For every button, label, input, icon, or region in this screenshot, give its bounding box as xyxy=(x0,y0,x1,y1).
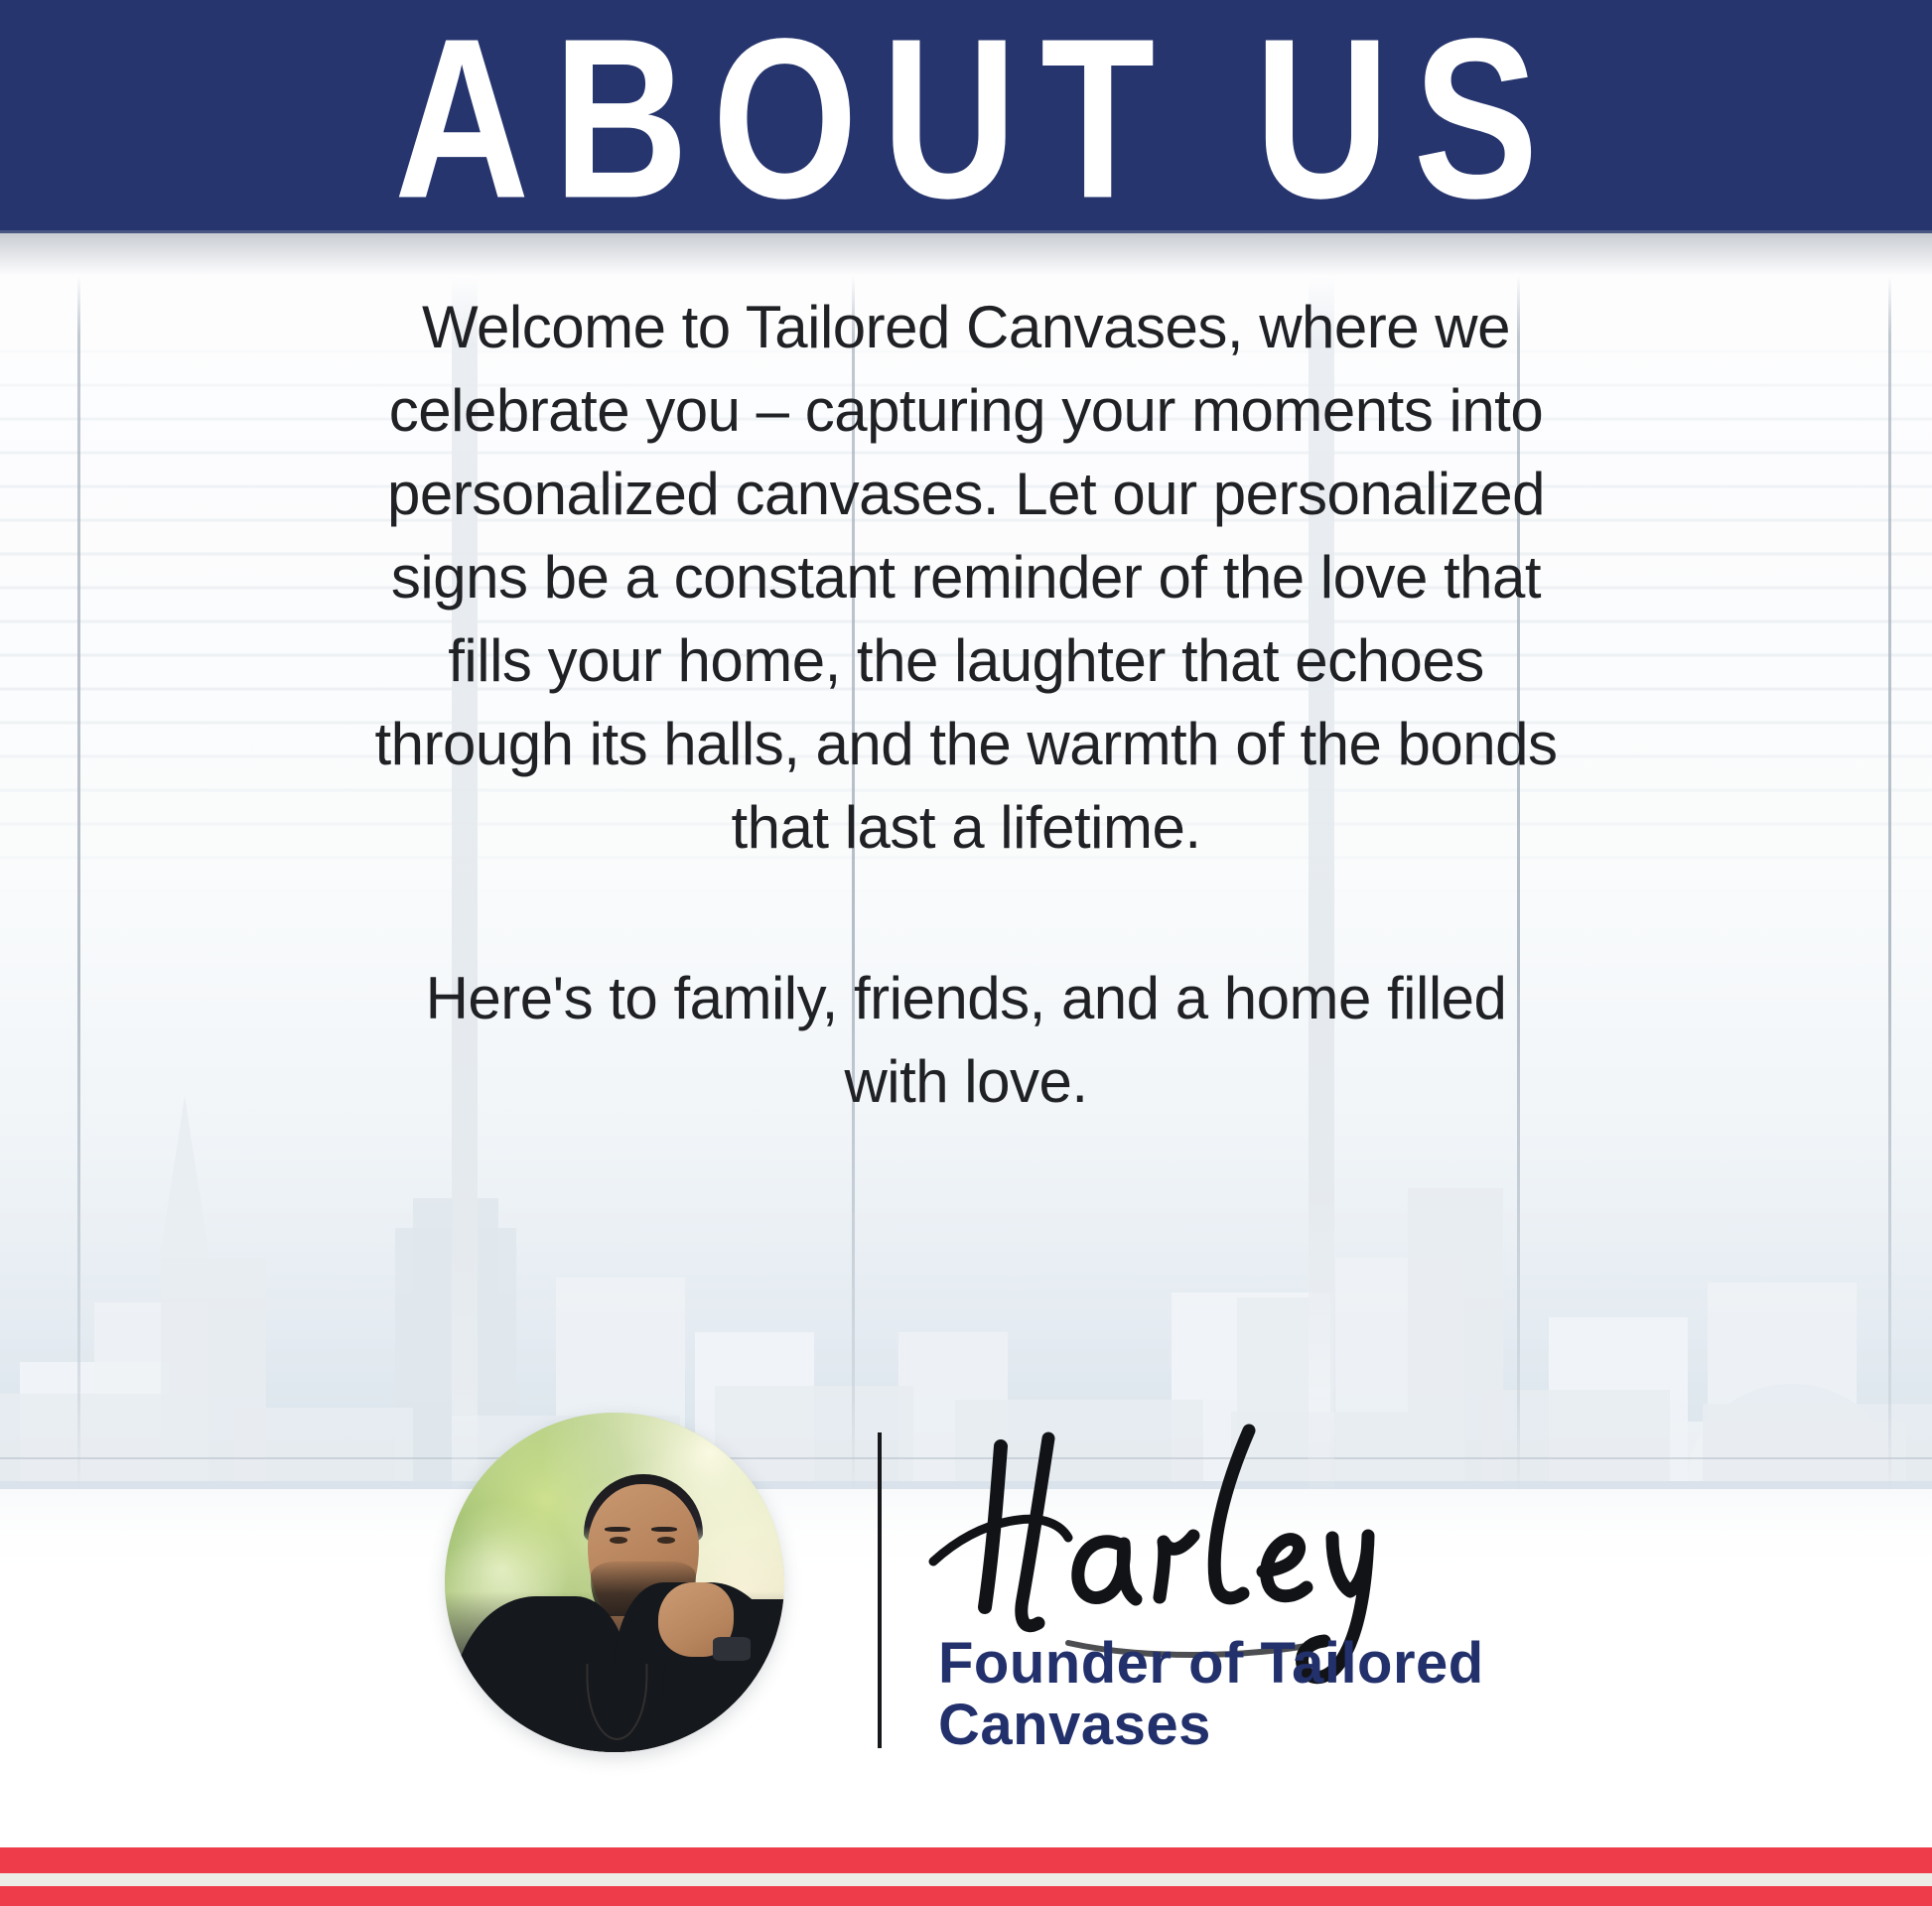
portrait-brow-left xyxy=(605,1527,630,1532)
closing-paragraph: Here's to family, friends, and a home fi… xyxy=(370,957,1562,1124)
founder-portrait-photo xyxy=(445,1413,784,1752)
founder-role-line-2: Canvases xyxy=(938,1695,1693,1756)
header-dropshadow xyxy=(0,230,1932,276)
portrait-watch xyxy=(713,1637,751,1661)
intro-paragraph: Welcome to Tailored Canvases, where we c… xyxy=(370,286,1562,870)
portrait-eye-left xyxy=(610,1537,627,1544)
about-us-header-banner: ABOUT US xyxy=(0,0,1932,230)
window-mullion xyxy=(77,276,80,1497)
founder-block: Founder of Tailored Canvases xyxy=(0,1395,1932,1792)
footer-accent-bar-bottom xyxy=(0,1886,1932,1906)
page-title: ABOUT US xyxy=(370,4,1562,230)
founder-role-line-1: Founder of Tailored xyxy=(938,1633,1693,1695)
portrait-brow-right xyxy=(651,1527,677,1532)
footer-accent-bar-top xyxy=(0,1847,1932,1873)
avatar xyxy=(445,1413,784,1752)
paragraph-spacer xyxy=(370,870,1562,957)
about-us-copy: Welcome to Tailored Canvases, where we c… xyxy=(370,286,1562,1124)
window-mullion xyxy=(1888,276,1891,1497)
portrait-eye-right xyxy=(657,1537,675,1544)
about-us-page: ABOUT US Welcome to Tailored Canvases, w… xyxy=(0,0,1932,1906)
footer-accent-gap xyxy=(0,1873,1932,1886)
header-underline xyxy=(0,230,1932,233)
founder-role: Founder of Tailored Canvases xyxy=(938,1633,1693,1756)
